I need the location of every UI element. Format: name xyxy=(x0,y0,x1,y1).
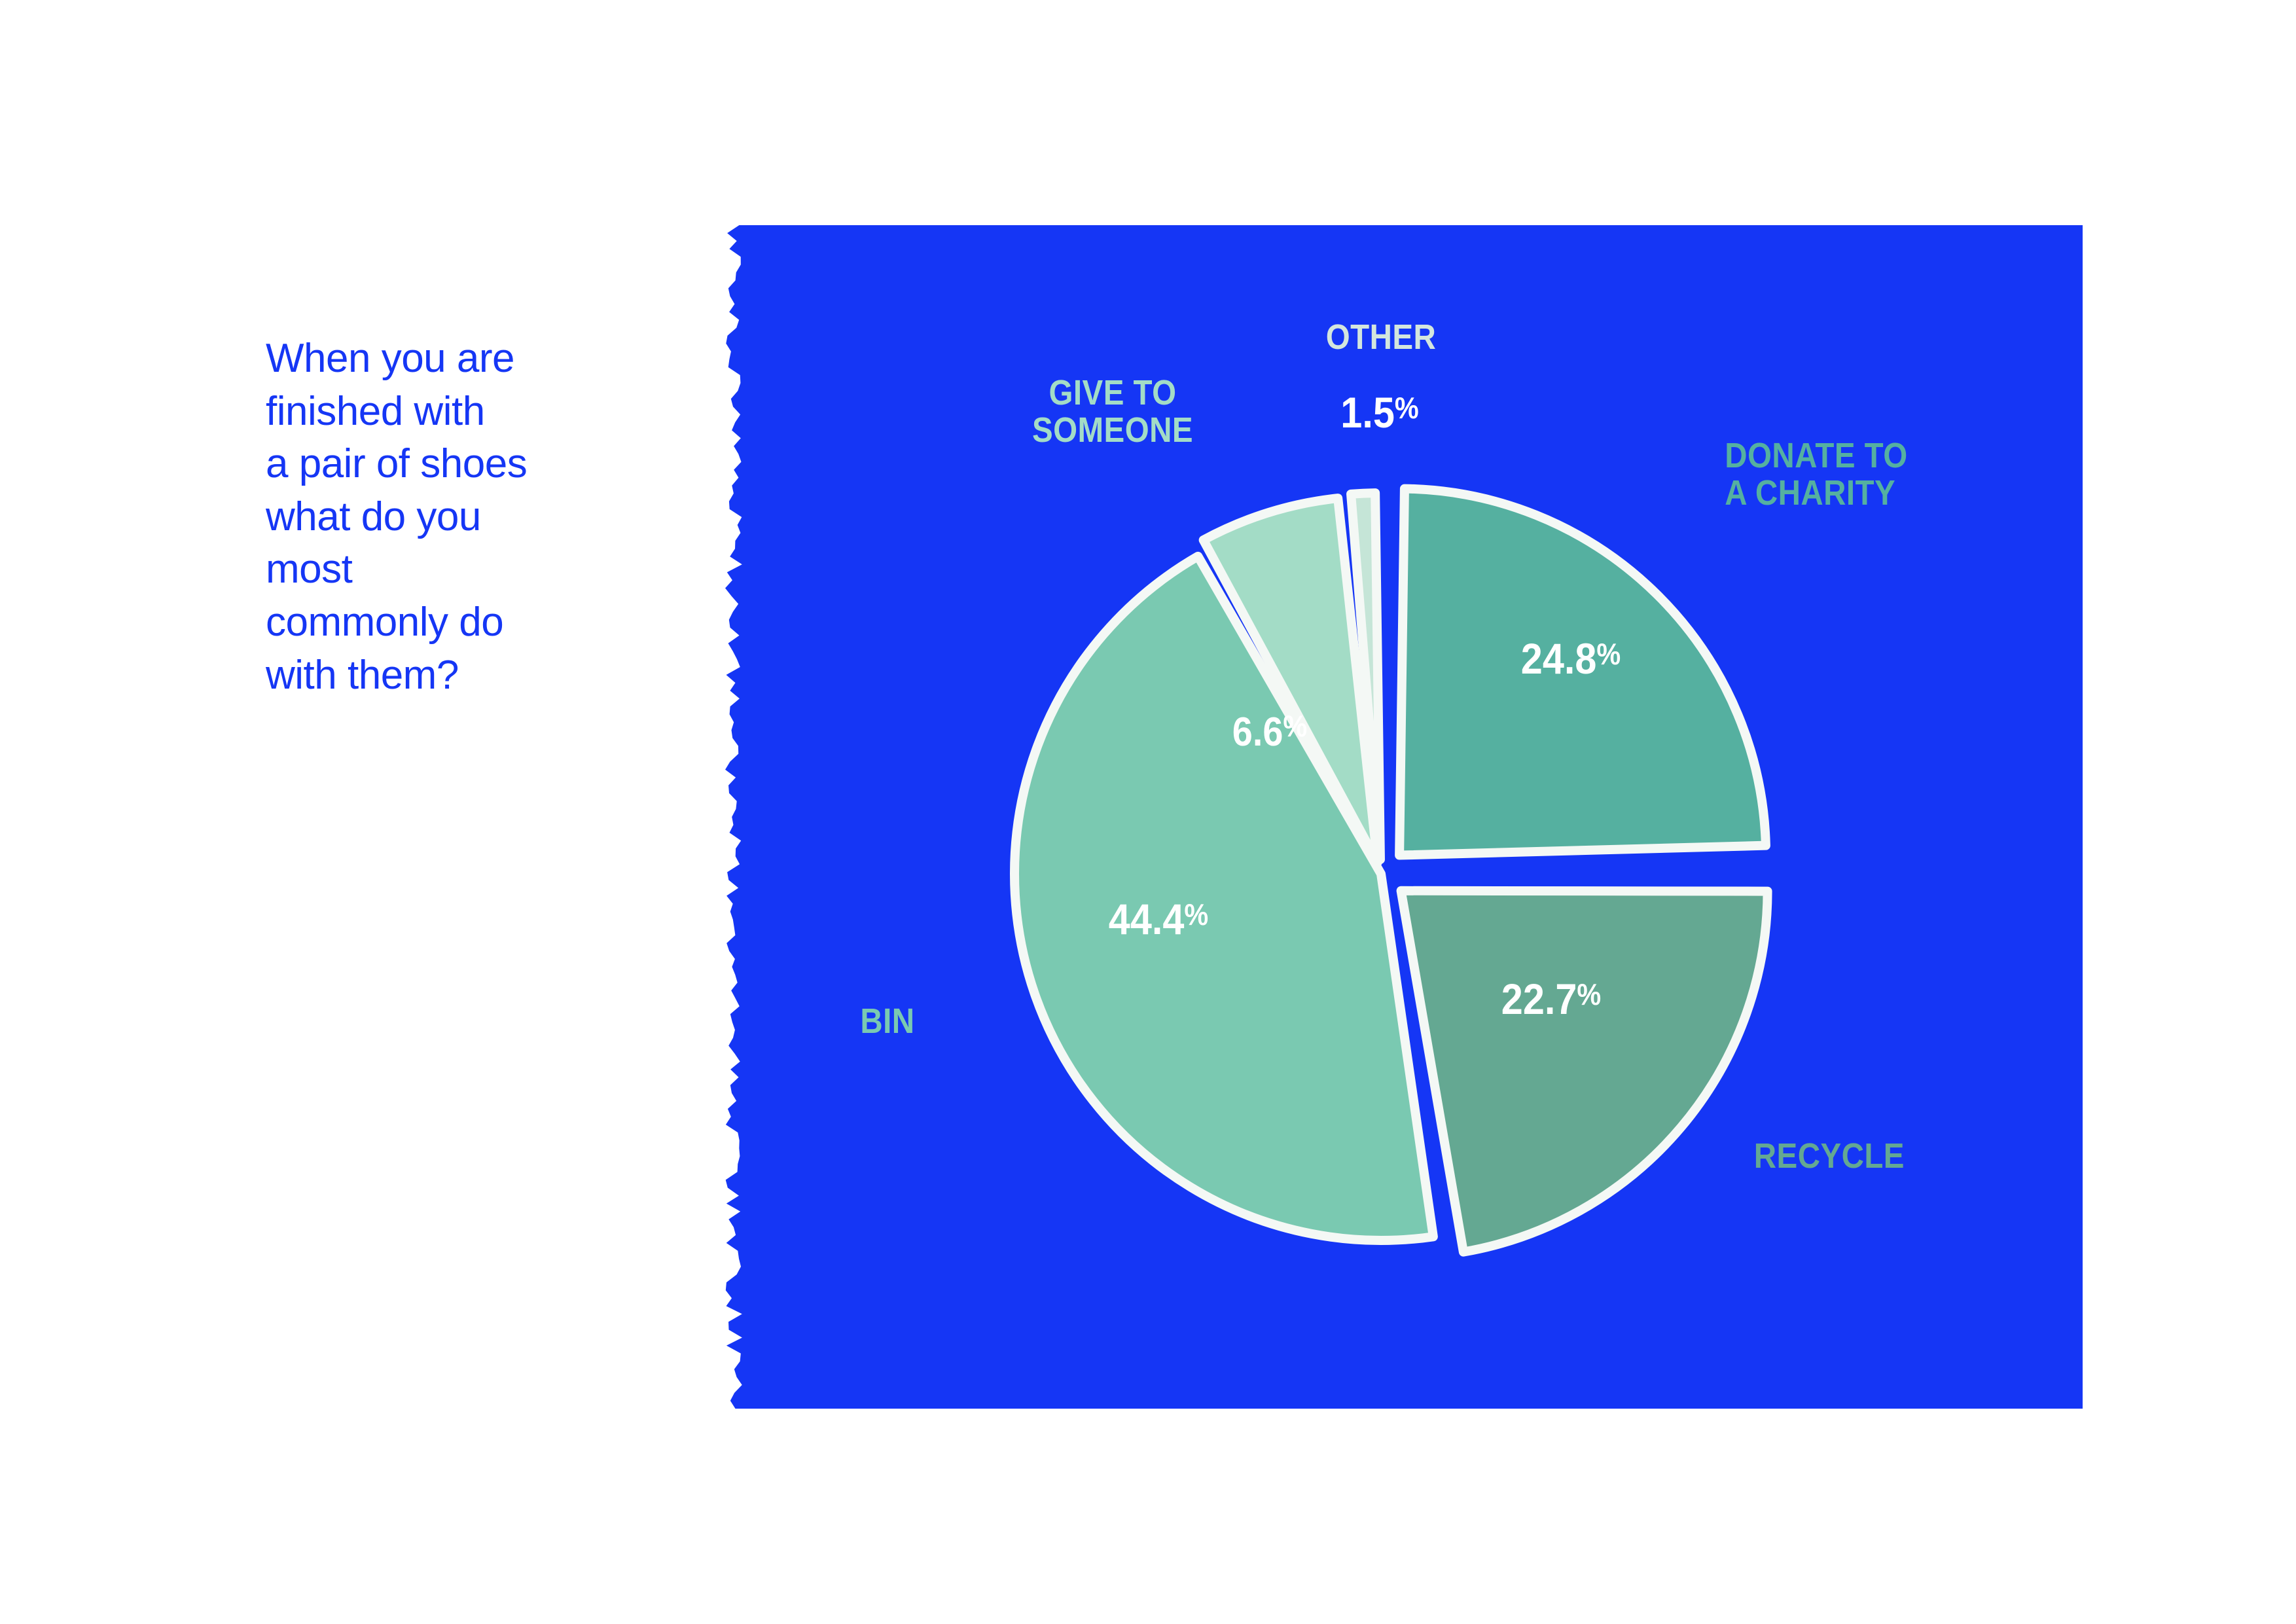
slice-value-bin: 44.4% xyxy=(1058,894,1259,944)
slice-label-give-to-someone: GIVE TO SOMEONE xyxy=(1009,374,1217,448)
slice-value-other: 1.5% xyxy=(1291,388,1468,437)
percent-sign: % xyxy=(1395,391,1419,425)
slice-value-give-number: 6.6 xyxy=(1232,710,1283,755)
percent-sign: % xyxy=(1184,897,1208,931)
slice-value-donate-to-a-charity: 24.8% xyxy=(1471,634,1671,683)
page-title: When you are finished with a pair of sho… xyxy=(266,333,685,702)
slice-value-bin-number: 44.4 xyxy=(1109,895,1185,943)
slice-value-other-number: 1.5 xyxy=(1340,388,1395,437)
slice-value-recycle: 22.7% xyxy=(1451,974,1651,1024)
slice-label-other: OTHER xyxy=(1295,319,1467,356)
percent-sign: % xyxy=(1596,637,1621,671)
slice-label-recycle: RECYCLE xyxy=(1754,1138,1944,1175)
slice-value-recycle-number: 22.7 xyxy=(1501,975,1577,1023)
percent-sign: % xyxy=(1283,709,1307,743)
slice-label-donate-to-a-charity: DONATE TO A CHARITY xyxy=(1725,437,1967,511)
slice-value-donate-number: 24.8 xyxy=(1521,634,1597,683)
slice-value-give-to-someone: 6.6% xyxy=(1199,708,1340,755)
percent-sign: % xyxy=(1577,977,1601,1011)
slice-label-bin: BIN xyxy=(860,1003,998,1040)
infographic-canvas: When you are finished with a pair of sho… xyxy=(0,0,2296,1624)
